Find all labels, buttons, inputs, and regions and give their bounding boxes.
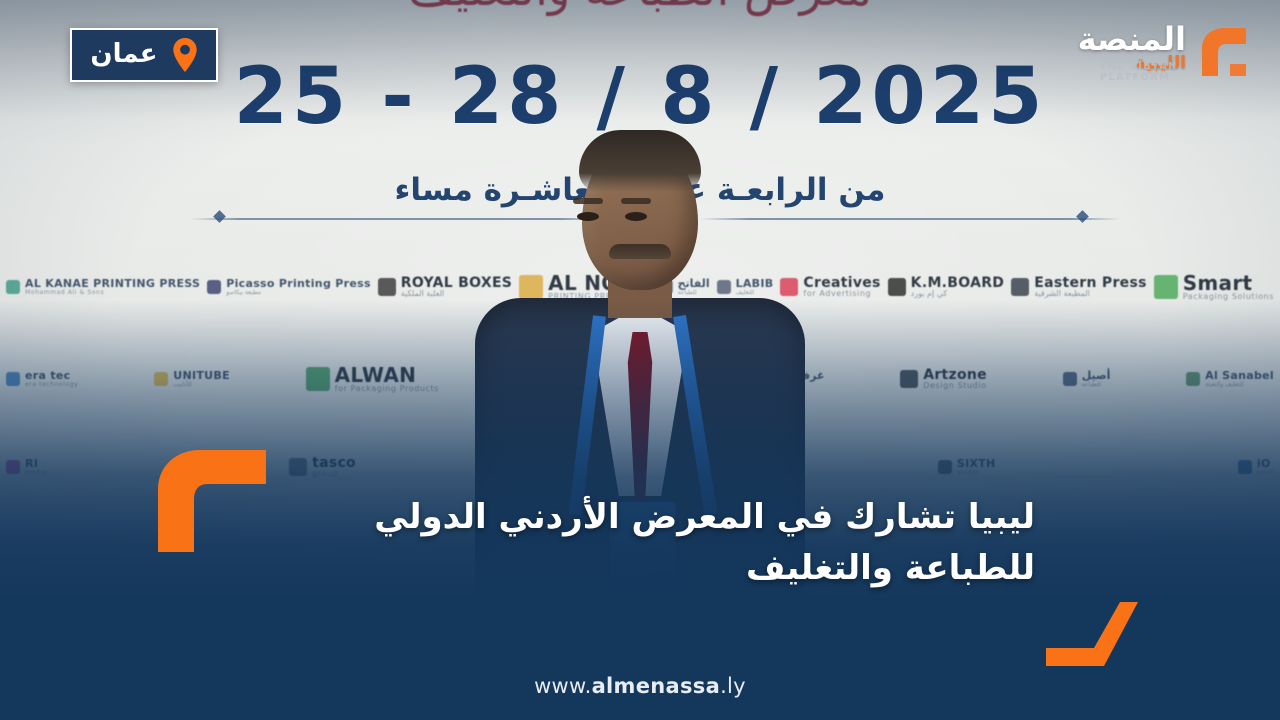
map-pin-icon — [172, 38, 198, 72]
eye — [625, 212, 647, 221]
sponsor-mark-icon — [888, 278, 906, 296]
sponsor-logo: Eastern Pressالمطبعة الشرقية — [1011, 276, 1147, 298]
sponsor-tagline: المطبعة الشرقية — [1034, 290, 1147, 298]
sponsor-tagline: for Advertising — [803, 290, 880, 298]
sponsor-text: Picasso Printing Pressمطبعة بيكاسو — [226, 278, 371, 295]
sponsor-name: Smart — [1183, 273, 1274, 293]
sponsor-name: K.M.BOARD — [911, 276, 1005, 290]
sponsor-tagline: كي إم بورد — [911, 290, 1005, 298]
sponsor-mark-icon — [378, 278, 396, 296]
brand-logo[interactable]: المنصة الليبية THE LIBYAN PLATFORM — [1030, 16, 1258, 92]
sponsor-logo: Picasso Printing Pressمطبعة بيكاسو — [207, 278, 371, 295]
eye — [577, 212, 599, 221]
site-url-tld: .ly — [720, 674, 746, 698]
eyebrow — [621, 198, 651, 204]
angle-accent-icon — [1046, 602, 1138, 666]
location-badge-label: عمان — [90, 41, 157, 70]
brand-latin-line-2: PLATFORM — [1100, 73, 1192, 84]
news-card: معرض الطباعة والتغليف 25 - 28 / 8 / 2025… — [0, 0, 1280, 720]
sponsor-logo: SmartPackaging Solutions — [1154, 273, 1274, 302]
sponsor-name: AL KANAE PRINTING PRESS — [25, 278, 200, 289]
sponsor-text: Eastern Pressالمطبعة الشرقية — [1034, 276, 1147, 298]
sponsor-text: SmartPackaging Solutions — [1183, 273, 1274, 302]
sponsor-logo: K.M.BOARDكي إم بورد — [888, 276, 1005, 298]
sponsor-mark-icon — [1154, 275, 1178, 299]
sponsor-logo: AL KANAE PRINTING PRESSMohammad Ali & So… — [6, 278, 200, 295]
headline: ليبيا تشارك في المعرض الأردني الدولي للط… — [245, 492, 1035, 594]
sponsor-mark-icon — [1011, 278, 1029, 296]
site-url[interactable]: www.almenassa.ly — [0, 674, 1280, 698]
sponsor-tagline: مطبعة بيكاسو — [226, 290, 371, 296]
site-url-prefix: www. — [534, 674, 591, 698]
hair — [579, 130, 701, 192]
site-url-name: almenassa — [592, 674, 721, 698]
sponsor-name: Picasso Printing Press — [226, 278, 371, 289]
brand-name-arabic: المنصة — [1034, 24, 1186, 54]
eyebrow — [573, 198, 603, 204]
sponsor-text: Creativesfor Advertising — [803, 276, 880, 298]
sponsor-text: AL KANAE PRINTING PRESSMohammad Ali & So… — [25, 278, 200, 295]
sponsor-text: K.M.BOARDكي إم بورد — [911, 276, 1005, 298]
moustache — [609, 244, 671, 259]
sponsor-mark-icon — [207, 280, 221, 294]
sponsor-mark-icon — [6, 280, 20, 294]
sponsor-tagline: Mohammad Ali & Sons — [25, 290, 200, 296]
sponsor-name: Eastern Press — [1034, 276, 1147, 290]
sponsor-name: Creatives — [803, 276, 880, 290]
brand-name-latin: THE LIBYAN PLATFORM — [1100, 62, 1192, 83]
location-badge[interactable]: عمان — [70, 28, 218, 82]
brand-mark-icon — [1192, 22, 1254, 84]
